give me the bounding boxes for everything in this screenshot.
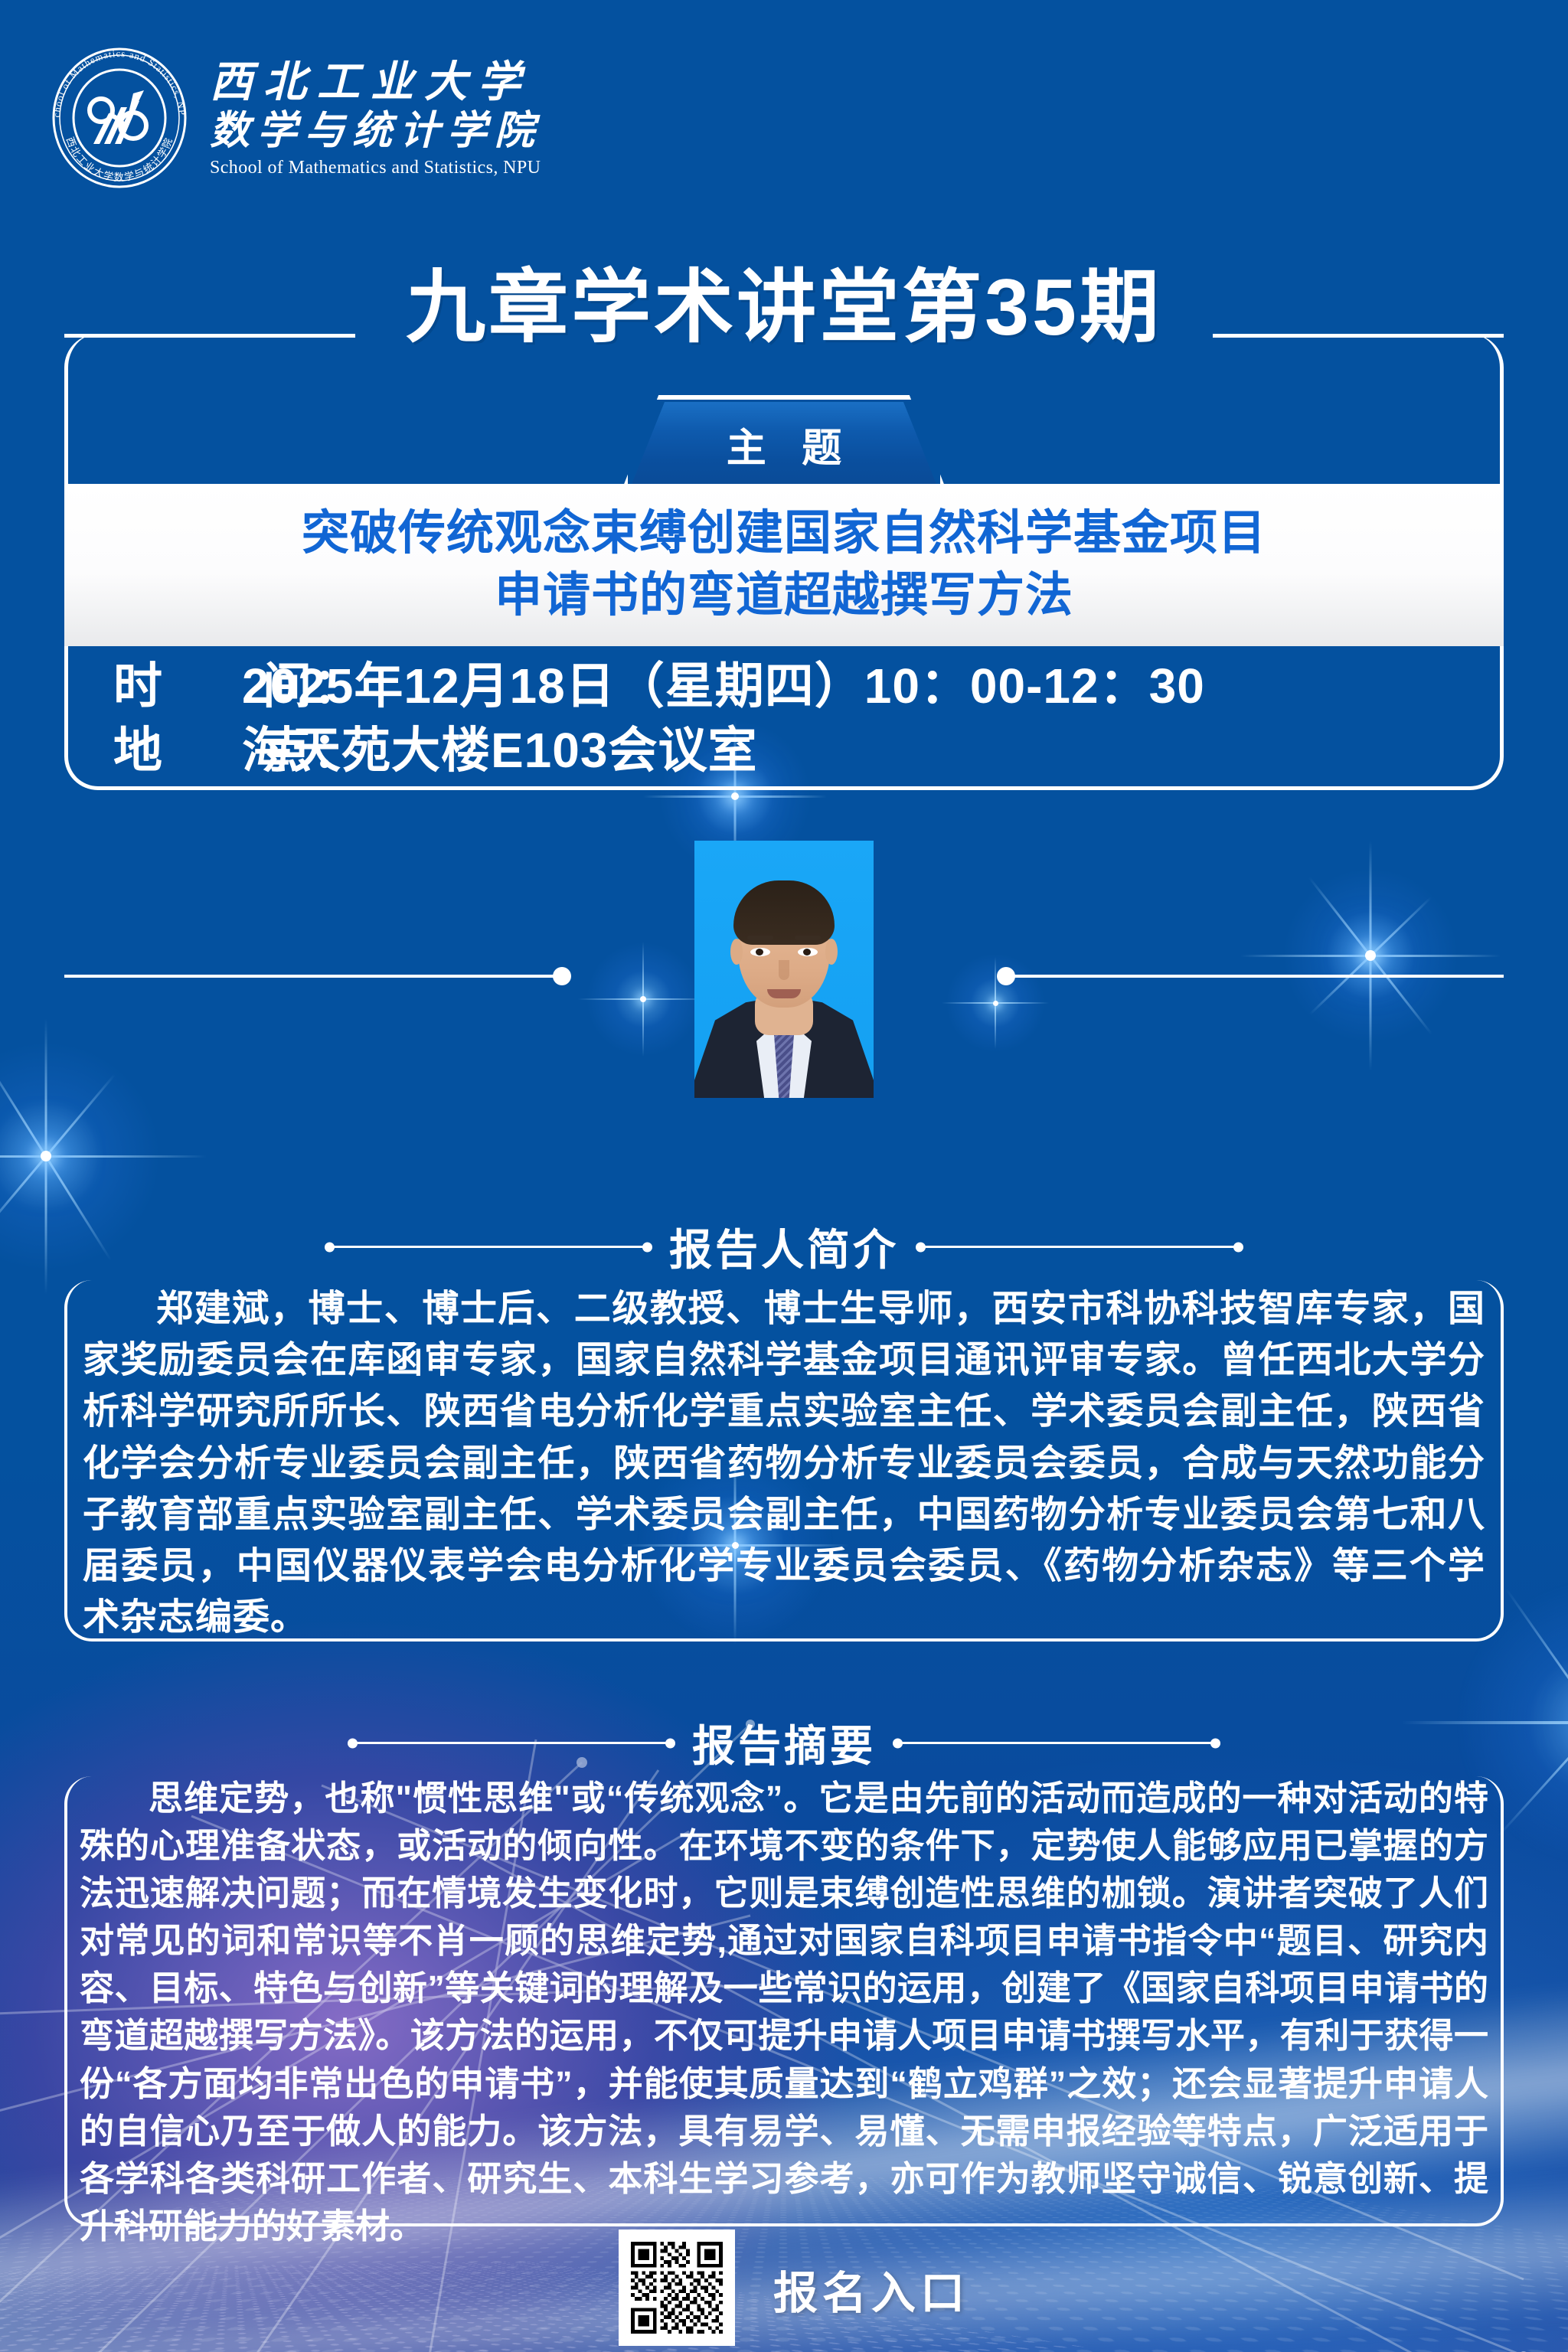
speaker-bio-header: 报告人简介 — [0, 1216, 1568, 1278]
divider-line-right — [896, 1742, 1217, 1744]
qr-code-icon — [631, 2242, 723, 2334]
institution-logo: School of Mathematics and Statistics, NP… — [47, 46, 542, 190]
abstract-text: 思维定势，也称"惯性思维"或“传统观念”。它是由先前的活动而造成的一种对活动的特… — [80, 1775, 1488, 2250]
registration-label[interactable]: 报名入口 — [773, 2257, 969, 2321]
page-title: 九章学术讲堂第35期 — [0, 268, 1568, 348]
abstract-header: 报告摘要 — [0, 1712, 1568, 1774]
schedule-place-label: 地 点： — [113, 718, 242, 782]
theme-line-1: 突破传统观念束缚创建国家自然科学基金项目 — [302, 503, 1266, 565]
speaker-portrait — [694, 841, 874, 1098]
photo-connector-dot-right — [997, 967, 1015, 985]
photo-connector-line-right — [998, 975, 1504, 978]
divider-line-left — [351, 1742, 672, 1744]
theme-line-2: 申请书的弯道超越撰写方法 — [495, 565, 1073, 627]
speaker-bio-text: 郑建斌，博士、博士后、二级教授、博士生导师，西安市科协科技智库专家，国家奖励委员… — [83, 1283, 1485, 1643]
schedule-time-row: 时 间：2025年12月18日（星期四）10：00-12：30 — [113, 654, 1504, 718]
logo-university-name: 西北工业大学 — [210, 57, 542, 108]
logo-school-name: 数学与统计学院 — [210, 108, 542, 155]
schedule-block: 时 间：2025年12月18日（星期四）10：00-12：30 地 点：海天苑大… — [64, 646, 1504, 790]
lecture-theme: 突破传统观念束缚创建国家自然科学基金项目 申请书的弯道超越撰写方法 — [64, 484, 1504, 646]
speaker-bio-title: 报告人简介 — [669, 1216, 899, 1278]
divider-line-left — [328, 1246, 649, 1248]
svg-text:School of Mathematics and Stat: School of Mathematics and Statistics, NP… — [47, 46, 188, 118]
schedule-place-row: 地 点：海天苑大楼E103会议室 — [113, 718, 1504, 782]
npu-math-school-emblem-icon: School of Mathematics and Statistics, NP… — [47, 46, 191, 190]
schedule-time-label: 时 间： — [113, 654, 242, 718]
registration-qr-code[interactable] — [619, 2229, 735, 2346]
schedule-place-value: 海天苑大楼E103会议室 — [242, 723, 757, 778]
photo-connector-line-left — [64, 975, 570, 978]
logo-english-name: School of Mathematics and Statistics, NP… — [210, 158, 542, 178]
schedule-time-value: 2025年12月18日（星期四）10：00-12：30 — [242, 658, 1205, 714]
abstract-title: 报告摘要 — [692, 1712, 876, 1774]
poster-root: School of Mathematics and Statistics, NP… — [0, 0, 1568, 2352]
photo-connector-dot-left — [553, 967, 571, 985]
theme-badge-label: 主 题 — [631, 402, 937, 486]
theme-badge: 主 题 — [631, 402, 937, 486]
divider-line-right — [919, 1246, 1240, 1248]
